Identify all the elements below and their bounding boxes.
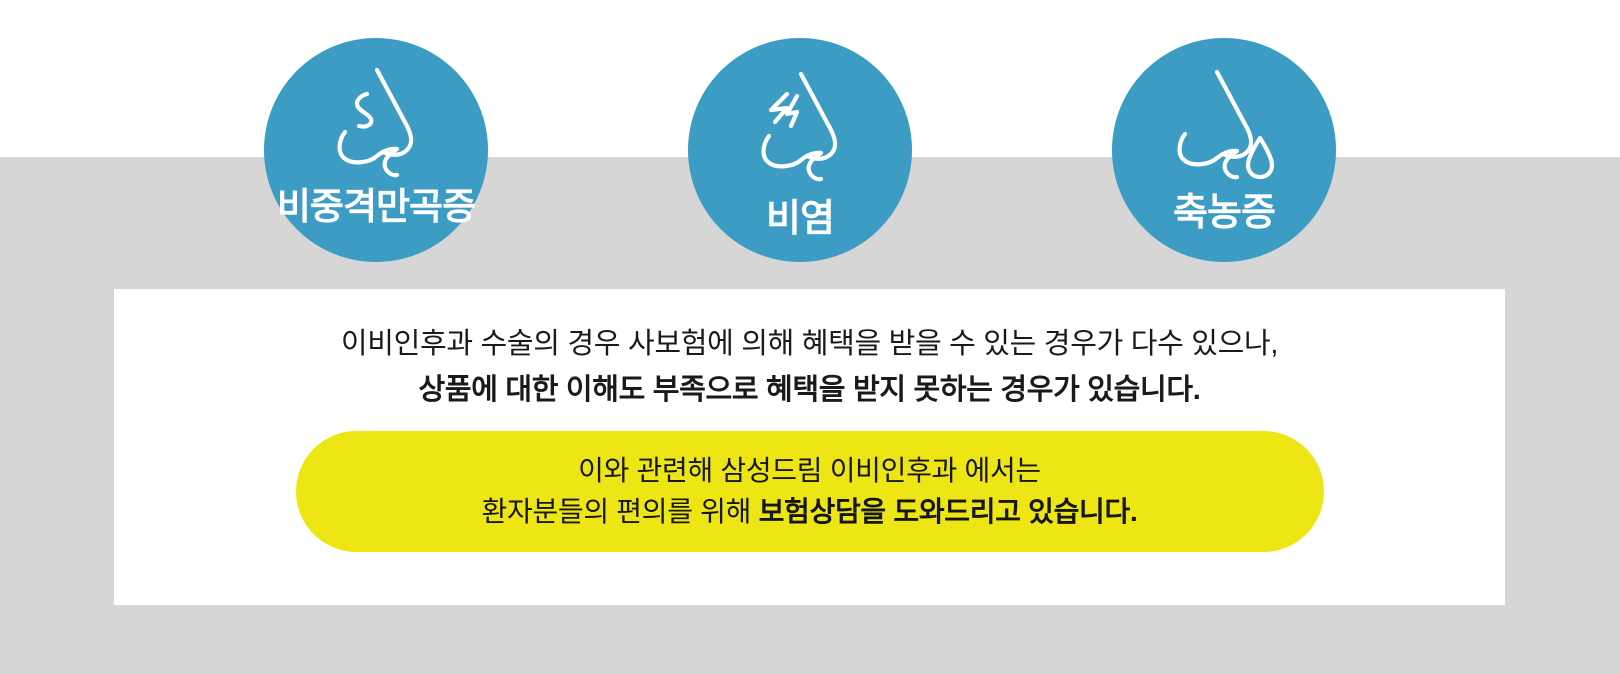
info-card: 이비인후과 수술의 경우 사보험에 의해 혜택을 받을 수 있는 경우가 다수 … <box>114 289 1505 605</box>
lede-paragraph: 이비인후과 수술의 경우 사보험에 의해 혜택을 받을 수 있는 경우가 다수 … <box>114 289 1505 407</box>
condition-circles-row: 비중격만곡증 비염 축농증 <box>0 38 1620 262</box>
nose-rhinitis-icon <box>735 68 865 186</box>
nose-drip-icon <box>1159 66 1289 184</box>
nose-septum-icon <box>311 64 441 182</box>
condition-label-deviated-septum: 비중격만곡증 <box>277 188 475 225</box>
callout-line-2-prefix: 환자분들의 편의를 위해 <box>482 496 759 527</box>
callout-line-2-emphasis: 보험상담을 도와드리고 있습니다. <box>759 496 1138 527</box>
condition-circle-rhinitis[interactable]: 비염 <box>688 38 912 262</box>
lede-line-1: 이비인후과 수술의 경우 사보험에 의해 혜택을 받을 수 있는 경우가 다수 … <box>114 327 1505 361</box>
condition-circle-sinusitis[interactable]: 축농증 <box>1112 38 1336 262</box>
lede-line-2: 상품에 대한 이해도 부족으로 혜택을 받지 못하는 경우가 있습니다. <box>114 373 1505 407</box>
condition-label-sinusitis: 축농증 <box>1173 194 1275 232</box>
condition-circle-deviated-septum[interactable]: 비중격만곡증 <box>264 38 488 262</box>
callout-line-2: 환자분들의 편의를 위해 보험상담을 도와드리고 있습니다. <box>482 494 1138 530</box>
condition-label-rhinitis: 비염 <box>766 200 834 238</box>
promo-banner: 비중격만곡증 비염 축농증 이비인후과 <box>0 0 1620 674</box>
insurance-consult-callout[interactable]: 이와 관련해 삼성드림 이비인후과 에서는 환자분들의 편의를 위해 보험상담을… <box>296 431 1324 552</box>
callout-line-1: 이와 관련해 삼성드림 이비인후과 에서는 <box>578 453 1041 489</box>
